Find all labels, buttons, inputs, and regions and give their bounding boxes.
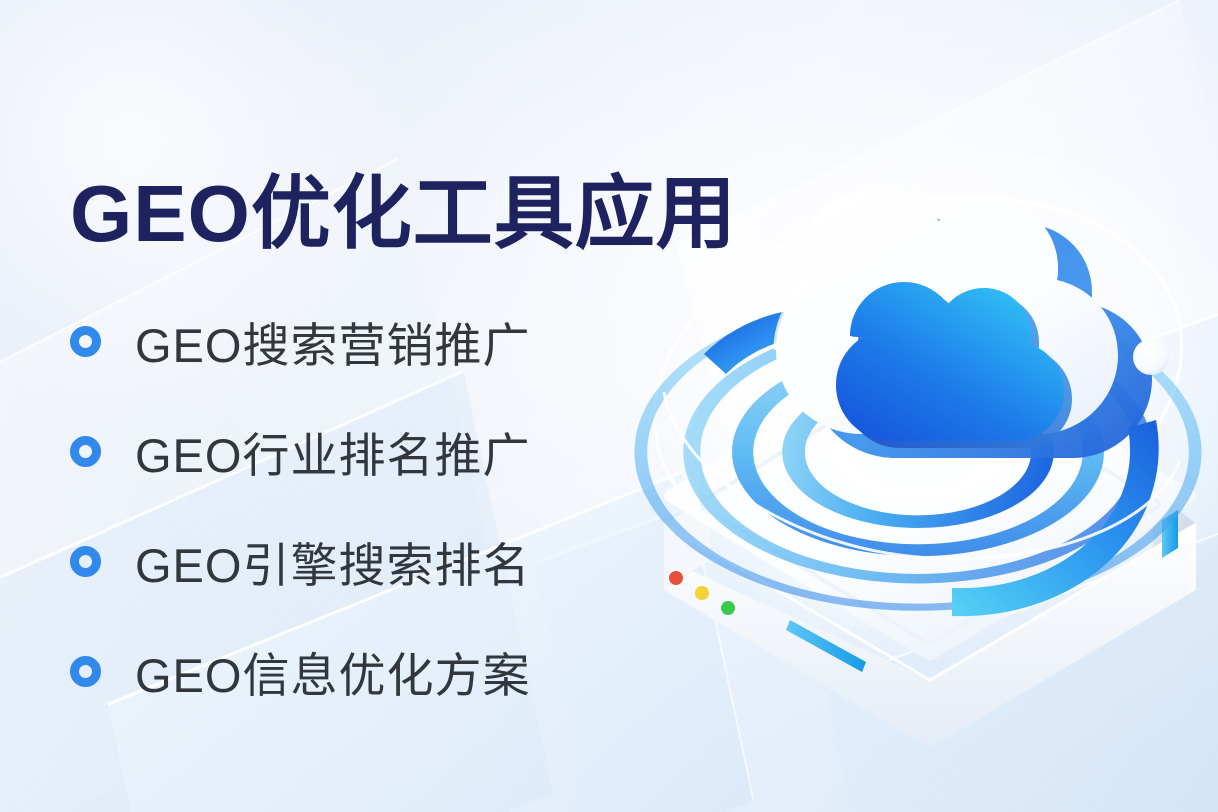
list-item[interactable]: GEO搜索营销推广 <box>70 286 530 396</box>
feature-label: GEO引擎搜索排名 <box>135 527 530 596</box>
cloud-3d <box>776 190 1152 458</box>
ring-bullet-icon <box>70 326 101 357</box>
poster-canvas: GEO优化工具应用 GEO搜索营销推广 GEO行业排名推广 GEO引擎搜索排名 … <box>0 0 1218 812</box>
list-item[interactable]: GEO行业排名推广 <box>70 396 530 506</box>
ring-bullet-icon <box>70 436 101 467</box>
ring-bullet-icon <box>70 656 101 687</box>
status-dot-yellow <box>695 586 709 600</box>
feature-list: GEO搜索营销推广 GEO行业排名推广 GEO引擎搜索排名 GEO信息优化方案 <box>70 286 530 726</box>
status-dot-red <box>669 571 683 585</box>
feature-label: GEO信息优化方案 <box>135 637 530 706</box>
list-item[interactable]: GEO信息优化方案 <box>70 616 530 726</box>
orbit-sphere <box>1133 339 1169 375</box>
ring-bullet-icon <box>70 546 101 577</box>
page-title: GEO优化工具应用 <box>70 172 737 256</box>
list-item[interactable]: GEO引擎搜索排名 <box>70 506 530 616</box>
status-dot-green <box>721 601 735 615</box>
feature-label: GEO搜索营销推广 <box>135 307 530 376</box>
feature-label: GEO行业排名推广 <box>135 417 530 486</box>
